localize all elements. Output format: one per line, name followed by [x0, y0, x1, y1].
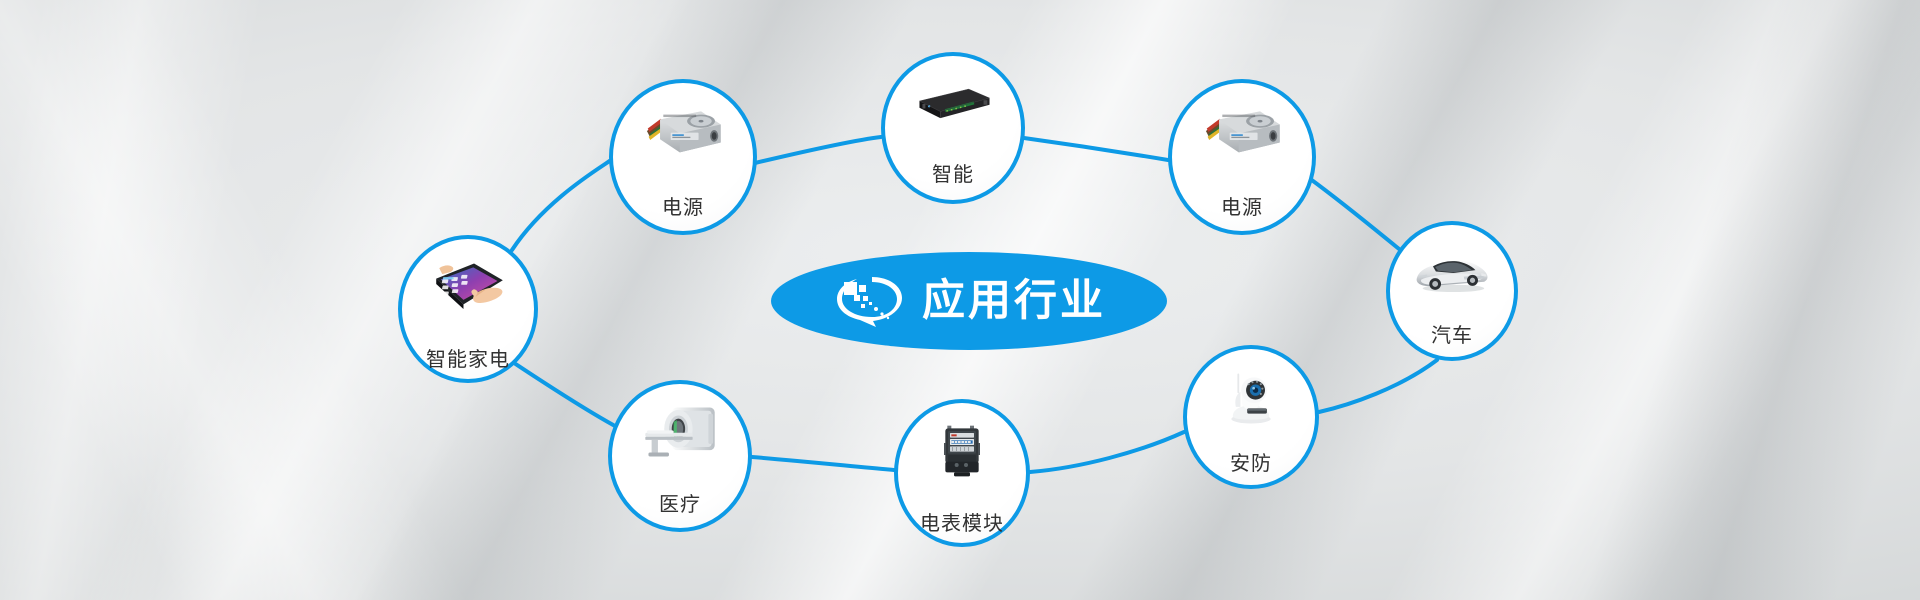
- node-intelligent[interactable]: 智能: [881, 52, 1025, 204]
- atx-power-supply-icon: [1201, 103, 1283, 159]
- rack-server-icon: [912, 76, 994, 132]
- node-security[interactable]: 安防: [1183, 345, 1319, 489]
- center-badge-title: 应用行业: [922, 280, 1106, 323]
- connector-line: [1024, 138, 1168, 160]
- tablet-touch-icon: [427, 259, 509, 315]
- atx-power-supply-icon: [642, 103, 724, 159]
- node-label: 电表模块: [920, 513, 1004, 533]
- orbit-pixel-logo-icon: [832, 271, 906, 331]
- node-power-supply-right[interactable]: 电源: [1168, 79, 1316, 235]
- node-smart-home-appliance[interactable]: 智能家电: [398, 235, 538, 383]
- connector-line: [1319, 360, 1437, 412]
- node-power-supply-left[interactable]: 电源: [609, 79, 757, 235]
- node-automotive[interactable]: 汽车: [1386, 221, 1518, 361]
- connector-line: [512, 160, 611, 250]
- connector-line: [505, 357, 615, 426]
- connector-line: [1309, 178, 1409, 257]
- node-medical[interactable]: 医疗: [608, 380, 752, 532]
- connector-line: [1030, 432, 1184, 472]
- node-label: 医疗: [659, 494, 701, 514]
- application-industries-banner: 电源 智能: [0, 0, 1920, 600]
- sports-car-icon: [1411, 245, 1493, 301]
- node-label: 电源: [662, 197, 704, 217]
- connector-line: [755, 137, 881, 163]
- connector-line: [752, 457, 894, 470]
- ip-camera-icon: [1210, 369, 1292, 425]
- electric-meter-icon: [921, 423, 1003, 479]
- ct-scanner-icon: [639, 404, 721, 460]
- center-badge[interactable]: 应用行业: [771, 252, 1167, 350]
- node-label: 汽车: [1431, 325, 1473, 345]
- node-label: 安防: [1230, 453, 1272, 473]
- node-label: 智能: [932, 164, 974, 184]
- node-label: 电源: [1221, 197, 1263, 217]
- node-label: 智能家电: [426, 349, 510, 369]
- node-meter-module[interactable]: 电表模块: [894, 399, 1030, 547]
